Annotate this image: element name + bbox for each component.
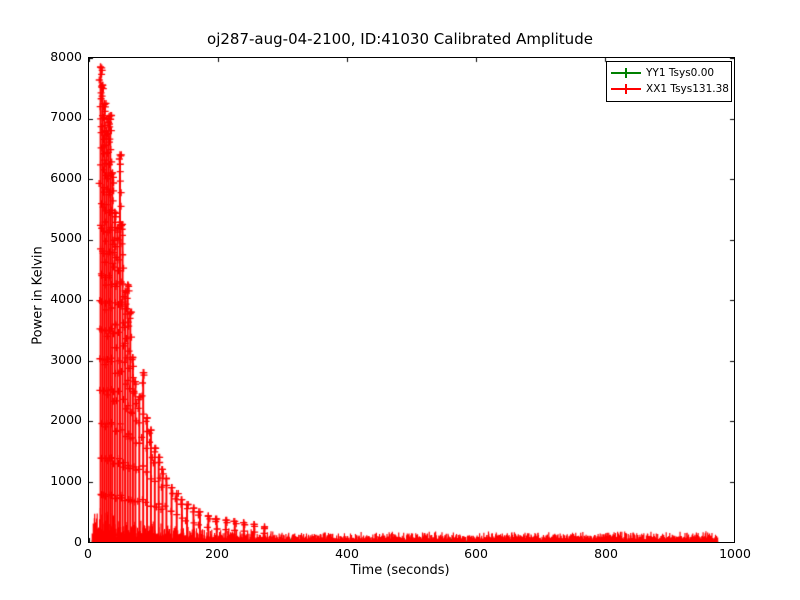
legend-label-xx1: XX1 Tsys131.38 [646,83,729,95]
x-tick-200: 200 [182,548,252,561]
x-tick-400: 400 [312,548,382,561]
x-tick-800: 800 [571,548,641,561]
legend-item-yy1: YY1 Tsys0.00 [611,65,727,81]
chart-figure: oj287-aug-04-2100, ID:41030 Calibrated A… [0,0,800,600]
x-tick-1000: 1000 [700,548,770,561]
x-tick-600: 600 [441,548,511,561]
plus-marker-red-icon [611,83,641,95]
page-title: oj287-aug-04-2100, ID:41030 Calibrated A… [0,30,800,48]
plus-marker-green-icon [611,67,641,79]
legend-label-yy1: YY1 Tsys0.00 [646,67,714,79]
y-tick-1000: 1000 [36,475,82,488]
x-tick-0: 0 [53,548,123,561]
x-axis-label: Time (seconds) [0,563,800,578]
y-tick-0: 0 [36,536,82,549]
legend: YY1 Tsys0.00 XX1 Tsys131.38 [606,61,732,102]
plot-area [88,57,735,543]
y-tick-8000: 8000 [36,51,82,64]
y-axis-label: Power in Kelvin [31,146,46,446]
legend-item-xx1: XX1 Tsys131.38 [611,81,727,97]
y-tick-7000: 7000 [36,111,82,124]
series-canvas [89,58,734,542]
